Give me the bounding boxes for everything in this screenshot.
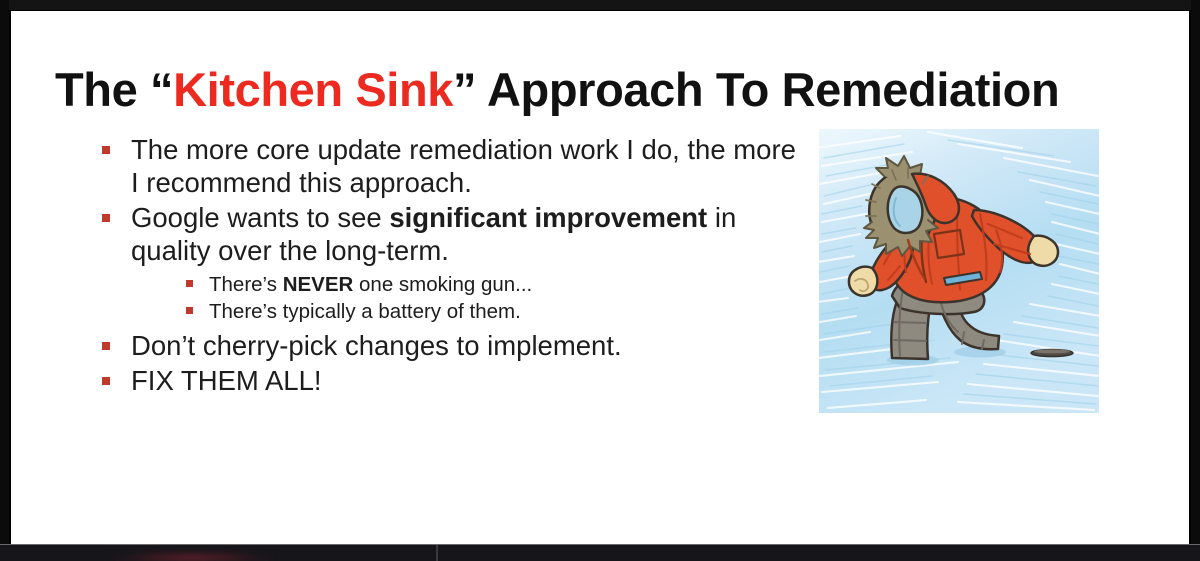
bullet-item-level-1: The more core update remediation work I … <box>93 133 805 199</box>
slide-body: The more core update remediation work I … <box>93 133 805 399</box>
bullet-square-icon <box>102 214 110 222</box>
bullet-text: There’s typically a battery of them. <box>209 300 521 323</box>
bullet-square-icon <box>102 342 110 350</box>
bullet-text-wrapper: The more core update remediation work I … <box>131 134 796 198</box>
bullet-text: one smoking gun... <box>353 273 532 296</box>
frame-top-bar <box>0 0 1200 10</box>
slide-title: The “Kitchen Sink” Approach To Remediati… <box>55 65 1155 116</box>
presentation-slide: The “Kitchen Sink” Approach To Remediati… <box>11 11 1189 544</box>
bullet-text-wrapper: Google wants to see significant improvem… <box>131 202 736 266</box>
object-on-snow <box>1031 349 1073 356</box>
slide-illustration <box>808 118 1108 424</box>
bullet-item-level-1: Google wants to see significant improvem… <box>93 201 805 325</box>
frame-left-bar <box>0 0 9 561</box>
bullet-square-icon <box>102 146 110 154</box>
screen-capture-frame: The “Kitchen Sink” Approach To Remediati… <box>0 0 1200 561</box>
bullet-text: FIX THEM ALL! <box>131 365 322 396</box>
person-walking-in-blizzard-icon <box>808 118 1108 424</box>
bullet-text-wrapper: There’s NEVER one smoking gun... <box>209 273 532 296</box>
slide-title-after: ” Approach To Remediation <box>453 63 1059 116</box>
frame-right-bar <box>1191 0 1200 561</box>
bullet-item-level-1: FIX THEM ALL! <box>93 364 805 397</box>
bullet-list-level-2: There’s NEVER one smoking gun...There’s … <box>131 271 805 325</box>
bullet-text-wrapper: There’s typically a battery of them. <box>209 300 521 323</box>
bullet-text-emphasis: significant improvement <box>389 202 707 233</box>
frame-bottom-bar <box>0 544 1200 561</box>
bottom-partial-element <box>112 550 272 561</box>
bullet-item-level-1: Don’t cherry-pick changes to implement. <box>93 329 805 362</box>
bullet-text-wrapper: Don’t cherry-pick changes to implement. <box>131 330 622 361</box>
bullet-item-level-2: There’s typically a battery of them. <box>179 298 805 325</box>
bullet-list-level-1: The more core update remediation work I … <box>93 133 805 397</box>
bullet-square-icon <box>186 307 193 314</box>
bullet-text: Don’t cherry-pick changes to implement. <box>131 330 622 361</box>
bottom-seam-divider <box>436 545 438 561</box>
bullet-square-icon <box>102 377 110 385</box>
bullet-text-wrapper: FIX THEM ALL! <box>131 365 322 396</box>
slide-title-highlight: Kitchen Sink <box>173 63 453 116</box>
bullet-text: The more core update remediation work I … <box>131 134 796 198</box>
bullet-text: Google wants to see <box>131 202 389 233</box>
bullet-square-icon <box>186 280 193 287</box>
bullet-text: There’s <box>209 273 283 296</box>
bullet-item-level-2: There’s NEVER one smoking gun... <box>179 271 805 298</box>
bullet-text-emphasis: NEVER <box>283 273 354 296</box>
slide-title-before: The “ <box>55 63 173 116</box>
